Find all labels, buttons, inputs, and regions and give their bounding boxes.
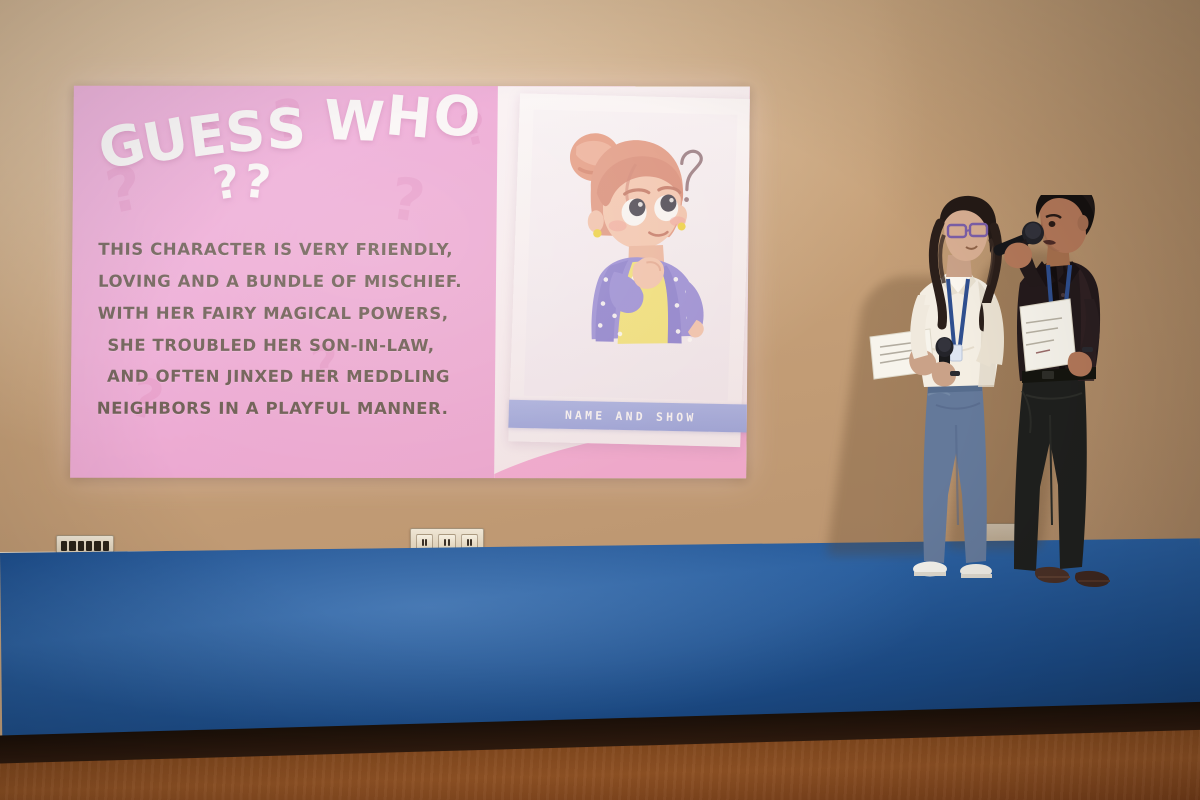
presenter-right-hand xyxy=(1004,243,1032,269)
stage-scene: ? ? ? ? ? ? ? GUESSWHO ?? xyxy=(0,0,1200,800)
light-switch[interactable] xyxy=(103,541,109,551)
body-line: LOVING AND A BUNDLE OF MISCHIEF. xyxy=(98,266,518,298)
presenter-right[interactable] xyxy=(992,195,1110,587)
light-switch[interactable] xyxy=(86,541,92,551)
question-mark-glyph: ? xyxy=(241,153,278,210)
title-letter: O xyxy=(430,86,485,146)
thinking-girl-illustration xyxy=(524,110,738,401)
presenters-group xyxy=(840,195,1140,605)
presenter-right-shoe xyxy=(1035,567,1069,583)
illustration-question-mark xyxy=(681,151,702,190)
presenter-left-jeans xyxy=(923,383,987,563)
body-line: AND OFTEN JINXED HER MEDDLING xyxy=(97,361,517,393)
name-and-show-banner: NAME AND SHOW xyxy=(508,400,750,433)
presenter-right-shoe xyxy=(1075,571,1109,587)
light-switch[interactable] xyxy=(78,541,84,551)
presenter-left[interactable] xyxy=(870,196,1004,578)
light-switch[interactable] xyxy=(69,541,75,551)
title-letter: H xyxy=(384,88,436,147)
slide-title: GUESSWHO xyxy=(95,104,480,159)
body-line: THIS CHARACTER IS VERY FRIENDLY, xyxy=(98,234,518,266)
light-switch[interactable] xyxy=(94,541,100,551)
presenter-right-paper[interactable] xyxy=(1020,299,1076,371)
polaroid-photo-frame xyxy=(508,93,750,447)
body-line: NEIGHBORS IN A PLAYFUL MANNER. xyxy=(97,393,517,425)
title-letter: W xyxy=(322,93,386,150)
polaroid-photo-area xyxy=(524,110,738,401)
title-letter: S xyxy=(266,101,308,157)
name-and-show-label: NAME AND SHOW xyxy=(565,408,697,425)
body-line: SHE TROUBLED HER SON-IN-LAW, xyxy=(97,329,517,361)
slide-body-text: THIS CHARACTER IS VERY FRIENDLY, LOVING … xyxy=(97,234,519,425)
body-line: WITH HER FAIRY MAGICAL POWERS, xyxy=(98,297,518,329)
slide-title-question-marks: ?? xyxy=(213,155,480,209)
slide-title-block: GUESSWHO ?? xyxy=(95,104,480,209)
light-switch[interactable] xyxy=(61,541,67,551)
projected-slide: ? ? ? ? ? ? ? GUESSWHO ?? xyxy=(70,86,750,479)
